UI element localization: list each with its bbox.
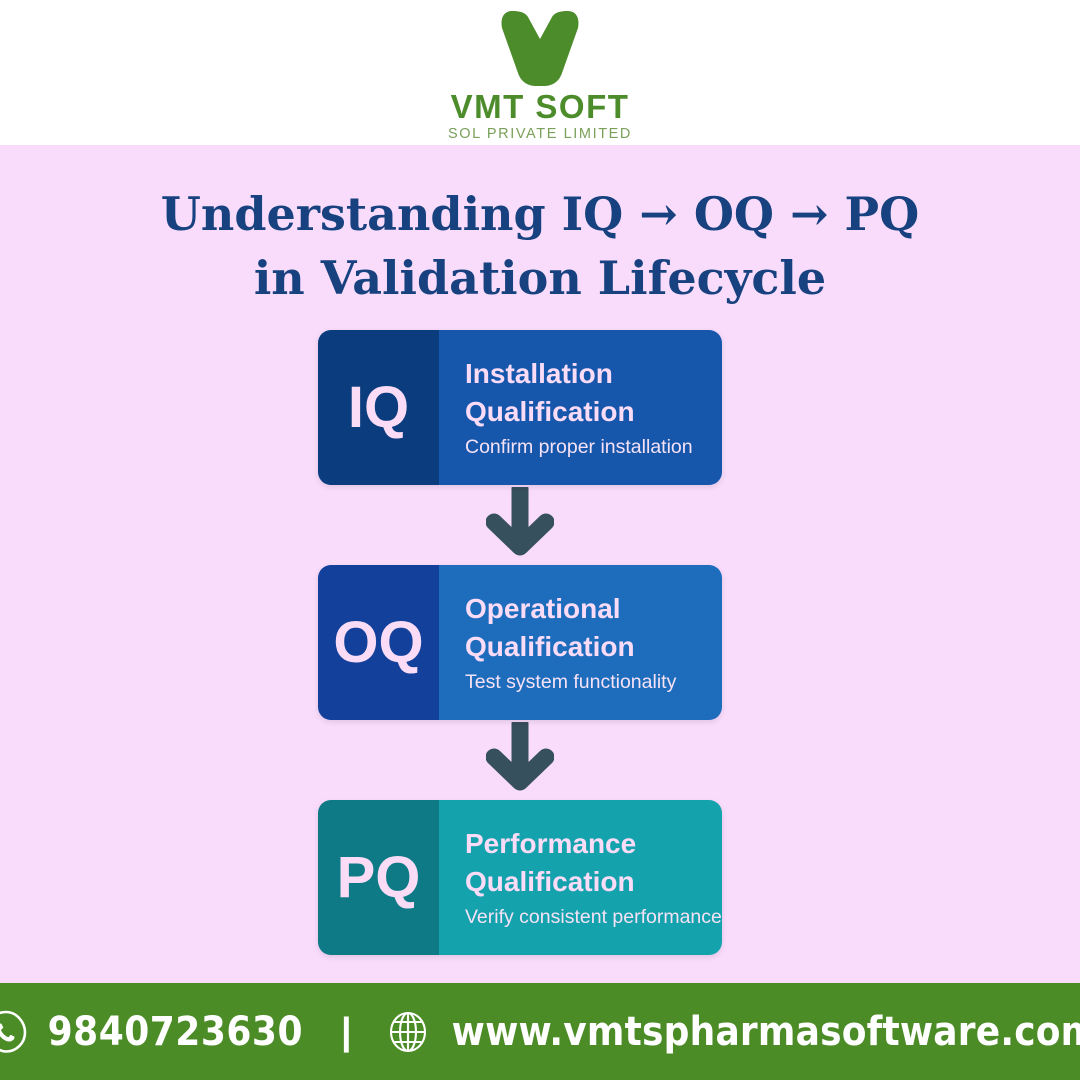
page-title: Understanding IQ → OQ → PQ in Validation… [0,182,1080,310]
poster-canvas: VMT SOFT SOL PRIVATE LIMITED Understandi… [0,0,1080,1080]
validation-flow-diagram: IQ Installation Qualification Confirm pr… [318,330,722,955]
whatsapp-icon[interactable] [0,1008,30,1056]
flow-step-title-iq-line-1: Installation [465,358,613,389]
flow-step-body-oq: Operational Qualification Test system fu… [439,565,722,720]
flow-step-desc-pq: Verify consistent performance [465,904,722,930]
flow-arrow-oq-to-pq [318,720,722,800]
flow-step-iq: IQ Installation Qualification Confirm pr… [318,330,722,485]
footer-contact-bar: 9840723630 | www.vmtspharmasoftware.com [0,983,1080,1080]
flow-step-title-oq-line-1: Operational [465,593,621,624]
flow-step-code-iq: IQ [318,330,439,485]
brand-logo: VMT SOFT SOL PRIVATE LIMITED [448,5,632,142]
flow-step-pq: PQ Performance Qualification Verify cons… [318,800,722,955]
flow-step-body-iq: Installation Qualification Confirm prope… [439,330,722,485]
page-title-line-2: in Validation Lifecycle [0,246,1080,310]
flow-step-title-iq: Installation Qualification [465,355,714,431]
flow-step-body-pq: Performance Qualification Verify consist… [439,800,722,955]
footer-divider: | [341,1013,352,1051]
flow-step-code-pq: PQ [318,800,439,955]
down-arrow-icon [486,487,554,563]
flow-step-title-pq-line-2: Qualification [465,866,635,897]
flow-step-title-iq-line-2: Qualification [465,396,635,427]
flow-step-desc-oq: Test system functionality [465,669,714,695]
down-arrow-icon [486,722,554,798]
flow-step-title-pq-line-1: Performance [465,828,636,859]
flow-step-code-oq: OQ [318,565,439,720]
footer-contact-group: 9840723630 | www.vmtspharmasoftware.com [0,1008,1080,1056]
footer-website-url[interactable]: www.vmtspharmasoftware.com [452,1009,1080,1055]
brand-name: VMT SOFT [451,90,630,123]
flow-step-title-pq: Performance Qualification [465,825,722,901]
flow-step-desc-iq: Confirm proper installation [465,434,714,460]
flow-arrow-iq-to-oq [318,485,722,565]
brand-tagline: SOL PRIVATE LIMITED [448,127,632,142]
header-bar: VMT SOFT SOL PRIVATE LIMITED [0,0,1080,145]
flow-step-title-oq: Operational Qualification [465,590,714,666]
globe-icon[interactable] [384,1008,432,1056]
flow-step-oq: OQ Operational Qualification Test system… [318,565,722,720]
flow-step-title-oq-line-2: Qualification [465,631,635,662]
footer-phone-number[interactable]: 9840723630 [48,1009,303,1055]
page-title-line-1: Understanding IQ → OQ → PQ [161,187,919,241]
vmt-v-leaf-logo-icon [492,5,588,89]
